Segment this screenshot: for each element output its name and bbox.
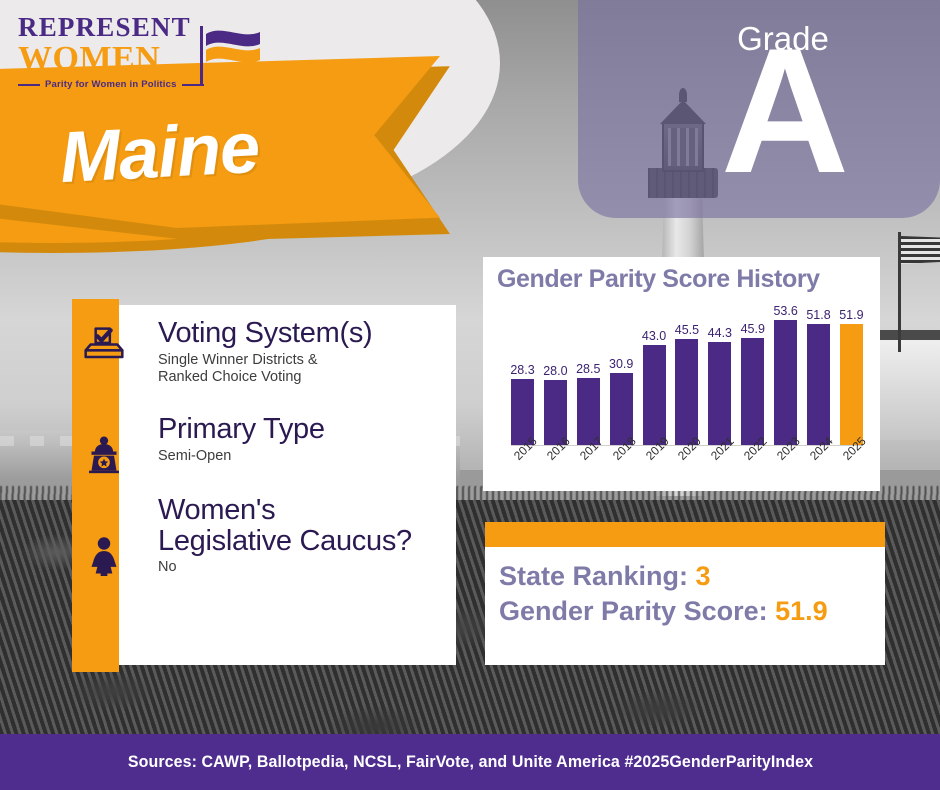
chart-bars: 28.328.028.530.943.045.544.345.953.651.8… [511,305,863,445]
chart-bar-column: 45.5 [675,305,698,445]
logo-flag-pole [200,26,203,84]
chart-bar-column: 51.9 [840,305,863,445]
chart-bar-value-label: 28.0 [543,364,567,378]
chart-bar [774,320,797,445]
womens-caucus-title: Women's Legislative Caucus? [158,495,448,556]
primary-type-title: Primary Type [158,414,448,445]
gender-parity-score-value: 51.9 [775,596,828,626]
chart-bar-value-label: 44.3 [708,326,732,340]
chart-bar-column: 51.8 [807,305,830,445]
tagline-rule-left [18,84,40,86]
chart-bar [708,342,731,445]
us-flag [901,236,940,264]
chart-bar [840,324,863,445]
chart-bar-column: 44.3 [708,305,731,445]
state-name: Maine [58,107,261,199]
chart-bar [675,339,698,445]
state-ranking-line: State Ranking: 3 [499,559,885,594]
detail-row-voting-system: Voting System(s) Single Winner Districts… [158,318,448,386]
chart-bar-value-label: 28.3 [510,363,534,377]
chart-bar-value-label: 45.5 [675,323,699,337]
score-card-accent-bar [485,522,885,547]
infographic-canvas: Grade A Maine REPRESENT WOMEN Parity for… [0,0,940,790]
chart-bar-column: 28.5 [577,305,600,445]
chart-title: Gender Parity Score History [497,265,877,294]
chart-bar-value-label: 45.9 [741,322,765,336]
sources-text: Sources: CAWP, Ballotpedia, NCSL, FairVo… [127,752,812,772]
chart-bar-value-label: 28.5 [576,362,600,376]
chart-bar-value-label: 43.0 [642,329,666,343]
logo-flag-icon [200,26,262,84]
gender-parity-score-label: Gender Parity Score: [499,596,775,626]
chart-bar-column: 28.3 [511,305,534,445]
chart-bar-column: 28.0 [544,305,567,445]
chart-bar [807,324,830,445]
primary-type-value: Semi-Open [158,448,448,465]
woman-figure-icon [84,536,124,576]
flag-pole [898,232,901,352]
gender-parity-history-chart: Gender Parity Score History 28.328.028.5… [483,257,880,491]
chart-bar-column: 53.6 [774,305,797,445]
voting-system-title: Voting System(s) [158,318,448,349]
sources-footer: Sources: CAWP, Ballotpedia, NCSL, FairVo… [0,734,940,790]
state-ranking-label: State Ranking: [499,561,696,591]
state-details-rows: Voting System(s) Single Winner Districts… [158,318,448,590]
logo-tagline: Parity for Women in Politics [45,79,177,90]
score-card-body: State Ranking: 3 Gender Parity Score: 51… [485,547,885,628]
womens-caucus-value: No [158,559,448,576]
ranking-score-card: State Ranking: 3 Gender Parity Score: 51… [485,522,885,665]
grade-letter: A [578,26,940,195]
chart-bar [741,338,764,445]
represent-women-logo: REPRESENT WOMEN Parity for Women in Poli… [18,14,238,90]
chart-bar-value-label: 51.8 [806,308,830,322]
voting-system-value: Single Winner Districts & Ranked Choice … [158,352,448,386]
detail-row-primary-type: Primary Type Semi-Open [158,414,448,465]
podium-speaker-icon [84,434,124,474]
chart-bar-column: 30.9 [610,305,633,445]
ballot-box-icon [84,322,124,362]
chart-bar-value-label: 53.6 [773,304,797,318]
chart-x-tick-labels: 2015201620172018201920202021202220232024… [511,449,863,489]
state-ranking-value: 3 [696,561,711,591]
chart-bar-value-label: 30.9 [609,357,633,371]
chart-bar-value-label: 51.9 [839,308,863,322]
logo-flag-waves [200,26,262,84]
detail-row-womens-caucus: Women's Legislative Caucus? No [158,495,448,577]
gender-parity-score-line: Gender Parity Score: 51.9 [499,594,885,629]
chart-bar-column: 45.9 [741,305,764,445]
chart-bar-column: 43.0 [643,305,666,445]
chart-bar [643,345,666,445]
